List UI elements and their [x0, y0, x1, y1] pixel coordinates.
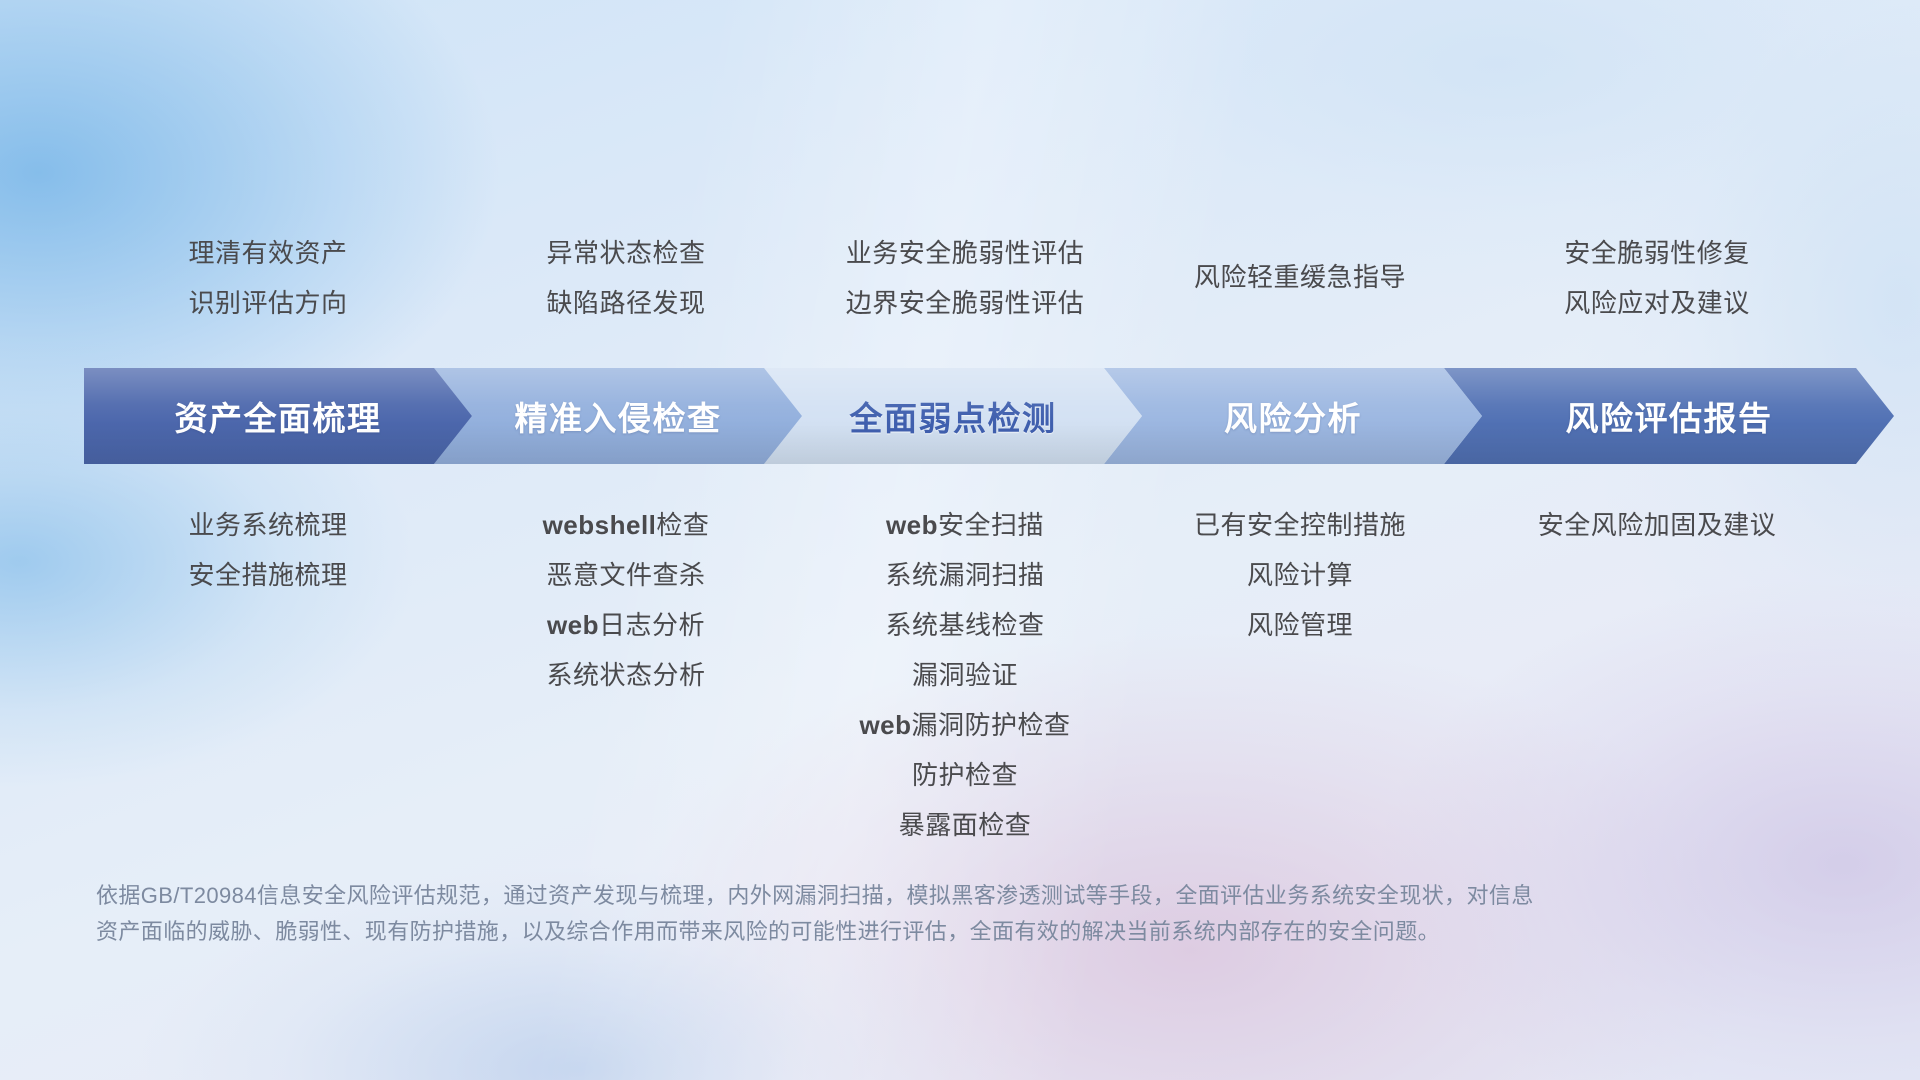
- top-note: 风险应对及建议: [1564, 278, 1750, 328]
- footer-line: 依据GB/T20984信息安全风险评估规范，通过资产发现与梳理，内外网漏洞扫描，…: [96, 878, 1656, 914]
- chevron-label: 风险分析: [1224, 392, 1362, 440]
- bottom-notes-risk-analysis: 已有安全控制措施风险计算风险管理: [1130, 500, 1470, 850]
- bottom-notes-row: 业务系统梳理安全措施梳理 webshell检查恶意文件查杀web日志分析系统状态…: [84, 500, 1844, 850]
- bottom-notes-asset-inventory: 业务系统梳理安全措施梳理: [84, 500, 452, 850]
- bottom-note: 安全措施梳理: [188, 550, 347, 600]
- process-chevron-band: 资产全面梳理 精准入侵检查 全面弱点检测 风险分析 风险评估报告: [84, 368, 1856, 464]
- chevron-stage-weakness-detection[interactable]: 全面弱点检测: [764, 368, 1142, 464]
- bottom-note: 恶意文件查杀: [546, 550, 705, 600]
- chevron-stage-assessment-report[interactable]: 风险评估报告: [1444, 368, 1894, 464]
- top-note: 识别评估方向: [188, 278, 347, 328]
- bottom-notes-intrusion-check: webshell检查恶意文件查杀web日志分析系统状态分析: [452, 500, 800, 850]
- top-notes-asset-inventory: 理清有效资产 识别评估方向: [84, 228, 452, 328]
- top-notes-row: 理清有效资产 识别评估方向 异常状态检查 缺陷路径发现 业务安全脆弱性评估 边界…: [84, 228, 1844, 328]
- top-note: 异常状态检查: [546, 228, 705, 278]
- bottom-note: web安全扫描: [886, 500, 1044, 550]
- bottom-note: 系统漏洞扫描: [885, 550, 1044, 600]
- top-note: 缺陷路径发现: [546, 278, 705, 328]
- bottom-notes-assessment-report: 安全风险加固及建议: [1470, 500, 1844, 850]
- bottom-note: 暴露面检查: [899, 800, 1032, 850]
- top-notes-assessment-report: 安全脆弱性修复 风险应对及建议: [1470, 228, 1844, 328]
- top-note: 理清有效资产: [188, 228, 347, 278]
- chevron-stage-intrusion-check[interactable]: 精准入侵检查: [434, 368, 802, 464]
- top-note: 安全脆弱性修复: [1564, 228, 1750, 278]
- chevron-label: 资产全面梳理: [175, 392, 382, 440]
- bottom-note: 系统状态分析: [546, 650, 705, 700]
- bottom-note: web日志分析: [547, 600, 705, 650]
- footer-description: 依据GB/T20984信息安全风险评估规范，通过资产发现与梳理，内外网漏洞扫描，…: [96, 878, 1656, 950]
- process-diagram: 理清有效资产 识别评估方向 异常状态检查 缺陷路径发现 业务安全脆弱性评估 边界…: [0, 0, 1920, 1080]
- bottom-note: 风险管理: [1247, 600, 1353, 650]
- top-note: 边界安全脆弱性评估: [846, 278, 1085, 328]
- chevron-label: 风险评估报告: [1566, 392, 1773, 440]
- bottom-notes-weakness-detection: web安全扫描系统漏洞扫描系统基线检查漏洞验证web漏洞防护检查防护检查暴露面检…: [800, 500, 1130, 850]
- bottom-note: 安全风险加固及建议: [1538, 500, 1777, 550]
- top-note: 风险轻重缓急指导: [1194, 252, 1406, 302]
- bottom-note: 业务系统梳理: [188, 500, 347, 550]
- top-note: 业务安全脆弱性评估: [846, 228, 1085, 278]
- chevron-stage-asset-inventory[interactable]: 资产全面梳理: [84, 368, 472, 464]
- top-notes-intrusion-check: 异常状态检查 缺陷路径发现: [452, 228, 800, 328]
- bottom-note: 防护检查: [912, 750, 1018, 800]
- top-notes-risk-analysis: 风险轻重缓急指导: [1130, 228, 1470, 328]
- footer-line: 资产面临的威胁、脆弱性、现有防护措施，以及综合作用而带来风险的可能性进行评估，全…: [96, 914, 1656, 950]
- top-notes-weakness-detection: 业务安全脆弱性评估 边界安全脆弱性评估: [800, 228, 1130, 328]
- chevron-label: 精准入侵检查: [515, 392, 722, 440]
- bottom-note: 系统基线检查: [885, 600, 1044, 650]
- bottom-note: web漏洞防护检查: [859, 700, 1070, 750]
- bottom-note: 风险计算: [1247, 550, 1353, 600]
- bottom-note: 已有安全控制措施: [1194, 500, 1406, 550]
- bottom-note: webshell检查: [543, 500, 710, 550]
- chevron-stage-risk-analysis[interactable]: 风险分析: [1104, 368, 1482, 464]
- bottom-note: 漏洞验证: [912, 650, 1018, 700]
- chevron-label: 全面弱点检测: [850, 392, 1057, 440]
